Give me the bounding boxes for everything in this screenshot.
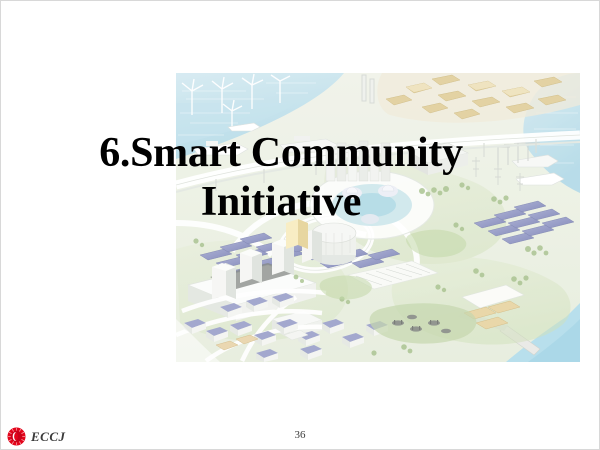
smart-community-illustration [176, 73, 580, 362]
presentation-slide: 6.Smart Community Initiative ECCJ 36 [0, 0, 600, 450]
page-number: 36 [1, 429, 599, 441]
